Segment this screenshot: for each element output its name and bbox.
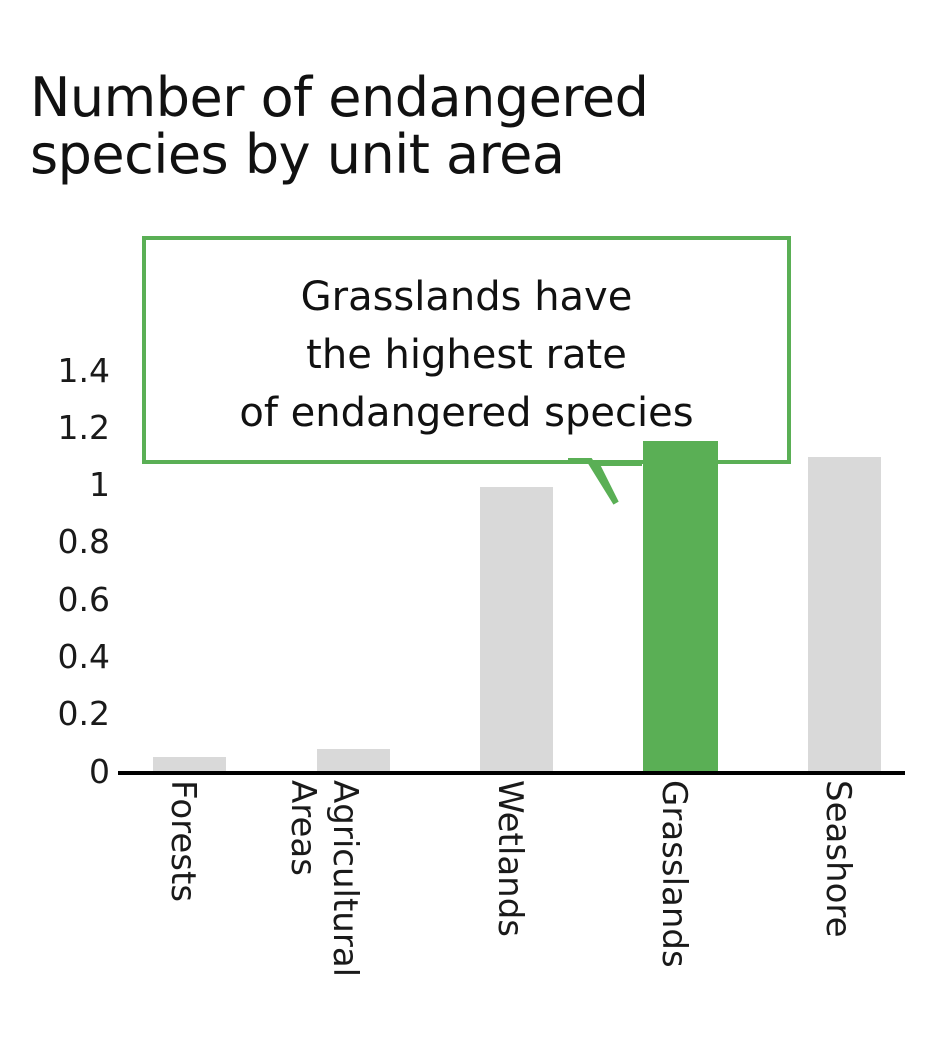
bar-wetlands[interactable] [480, 487, 553, 773]
bar-seashore[interactable] [808, 457, 881, 773]
y-tick-label: 1.2 [20, 411, 110, 444]
y-tick-label: 1 [20, 468, 110, 501]
bar-agricultural[interactable] [317, 749, 390, 773]
x-tick-label-seashore: Seashore [818, 780, 858, 938]
chart-title: Number of endangered species by unit are… [30, 70, 770, 183]
x-tick-label-wetlands: Wetlands [490, 780, 530, 937]
x-tick-label-agricultural: Agricultural Areas [282, 780, 366, 977]
annotation-callout-box: Grasslands have the highest rate of enda… [142, 236, 791, 464]
annotation-callout-text: Grasslands have the highest rate of enda… [146, 268, 787, 442]
x-tick-label-forests: Forests [163, 780, 203, 902]
y-tick-label: 0.6 [20, 583, 110, 616]
y-tick-label: 0.4 [20, 640, 110, 673]
y-tick-label: 1.4 [20, 354, 110, 387]
x-axis-tick-labels: Forests Agricultural Areas Wetlands Gras… [118, 780, 905, 1030]
x-axis-line [118, 771, 905, 775]
callout-tail-mask [572, 458, 610, 468]
y-tick-label: 0.8 [20, 525, 110, 558]
x-tick-label-grasslands: Grasslands [654, 780, 694, 968]
chart-container: Number of endangered species by unit are… [0, 0, 948, 1044]
y-axis-tick-labels: 1.4 1.2 1 0.8 0.6 0.4 0.2 0 [10, 370, 110, 773]
bar-grasslands[interactable] [643, 441, 718, 773]
y-tick-label: 0 [20, 755, 110, 788]
y-tick-label: 0.2 [20, 697, 110, 730]
